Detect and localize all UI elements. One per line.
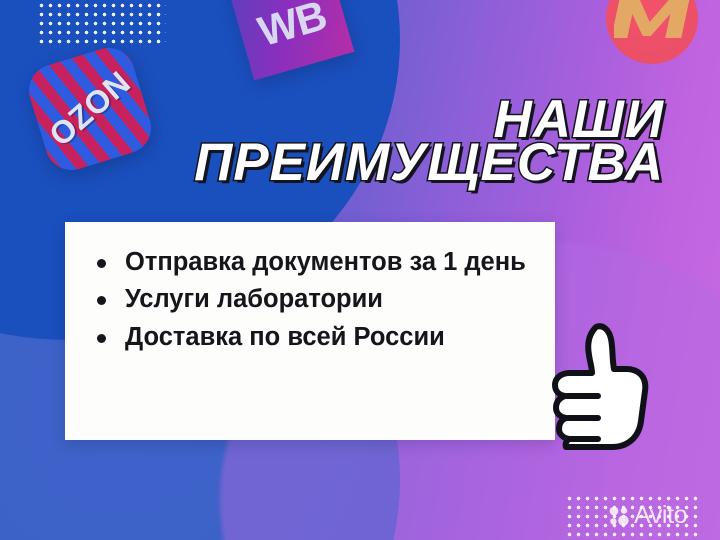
dot-grid-pattern-bottom-right [565,494,702,537]
megamarket-m-icon [614,0,692,56]
promo-poster: OZON WB НАШИ ПРЕИМУЩЕСТВА Отправка докум… [0,0,720,540]
wb-logo-label: WB [253,0,332,56]
list-item: Отправка документов за 1 день [95,246,537,279]
megamarket-logo [606,0,698,64]
benefits-list: Отправка документов за 1 день Услуги лаб… [65,222,555,354]
benefits-card: Отправка документов за 1 день Услуги лаб… [65,222,555,440]
dot-grid-pattern-top-left [37,1,166,44]
ozon-logo-label: OZON [42,64,138,154]
list-item: Доставка по всей России [95,321,537,354]
list-item: Услуги лаборатории [95,283,537,316]
thumbs-up-icon [540,315,660,450]
